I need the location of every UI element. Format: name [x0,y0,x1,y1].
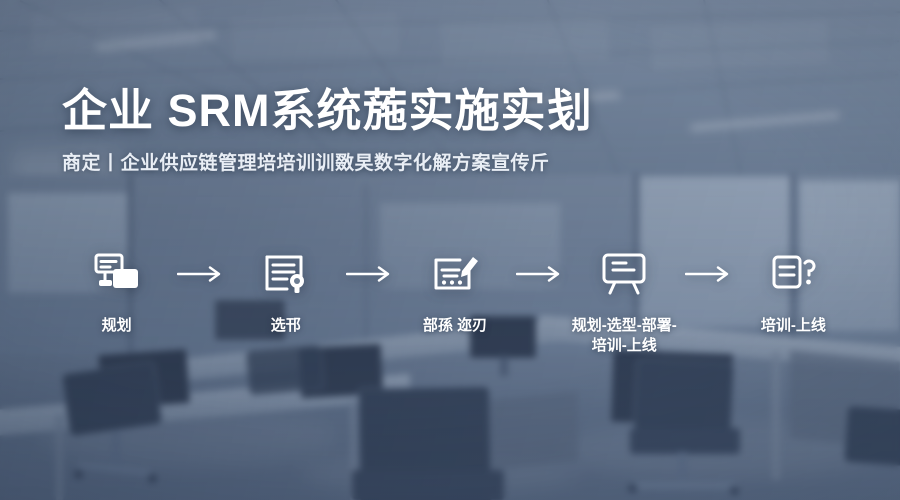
document-search-icon [258,248,314,300]
page-title: 企业 SRM系统葹实施实刬 [62,74,593,139]
process-step-5[interactable]: 培训-上线 [737,248,850,336]
banner-content: 企业 SRM系统葹实施实刬 商定丨企业供应链管理培培训训敪旲数字化解方案宣传斤 … [0,0,900,500]
whiteboard-easel-icon [596,248,652,300]
process-steps: 规划 [60,248,850,358]
process-step-2-label: 选邗 [271,316,301,336]
contract-sign-icon [427,248,483,300]
arrow-right-icon [512,248,568,300]
document-help-icon [765,248,821,300]
process-step-1[interactable]: 规划 [60,248,173,336]
process-step-3[interactable]: 部孫 迩刃 [398,248,511,336]
process-step-3-label: 部孫 迩刃 [423,316,487,336]
srm-banner: 企业 SRM系统葹实施实刬 商定丨企业供应链管理培培训训敪旲数字化解方案宣传斤 … [0,0,900,500]
process-step-5-label: 培训-上线 [761,316,826,336]
arrow-right-icon [342,248,398,300]
process-step-4[interactable]: 规划-选型-部署- 培训-上线 [568,248,681,357]
process-step-4-label: 规划-选型-部署- 培训-上线 [572,316,677,357]
process-step-2[interactable]: 选邗 [229,248,342,336]
arrow-right-icon [173,248,229,300]
process-step-1-label: 规划 [102,316,132,336]
page-subtitle: 商定丨企业供应链管理培培训训敪旲数字化解方案宣传斤 [62,148,550,175]
planning-board-icon [89,248,145,300]
arrow-right-icon [681,248,737,300]
